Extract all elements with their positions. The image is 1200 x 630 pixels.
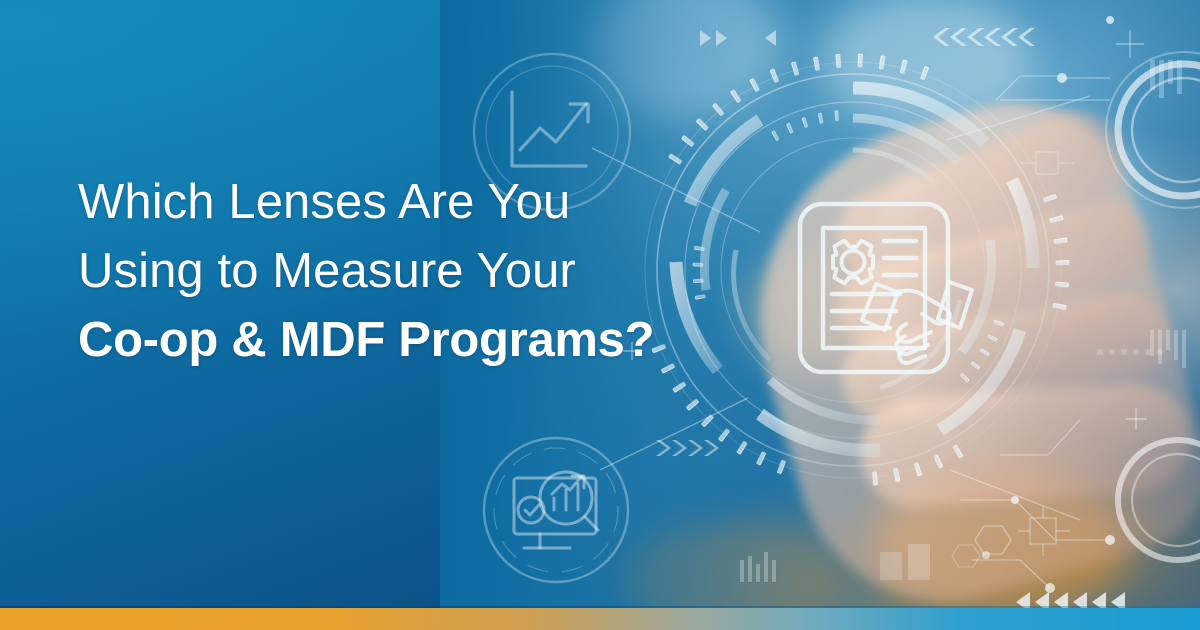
headline-line-3: Co-op & MDF Programs? <box>78 306 718 375</box>
headline-line-2: Using to Measure Your <box>78 237 718 306</box>
fingertip-ring <box>1106 52 1200 560</box>
banner-canvas: Which Lenses Are You Using to Measure Yo… <box>0 0 1200 630</box>
monitor-analytics-icon <box>484 438 628 582</box>
contract-handshake-icon <box>800 204 972 372</box>
bottom-accent-bar <box>0 608 1200 630</box>
headline-line-1: Which Lenses Are You <box>78 168 718 237</box>
network-node-dots <box>982 16 1115 593</box>
bottom-bar-divider <box>0 606 1200 608</box>
headline-block: Which Lenses Are You Using to Measure Yo… <box>78 168 718 375</box>
